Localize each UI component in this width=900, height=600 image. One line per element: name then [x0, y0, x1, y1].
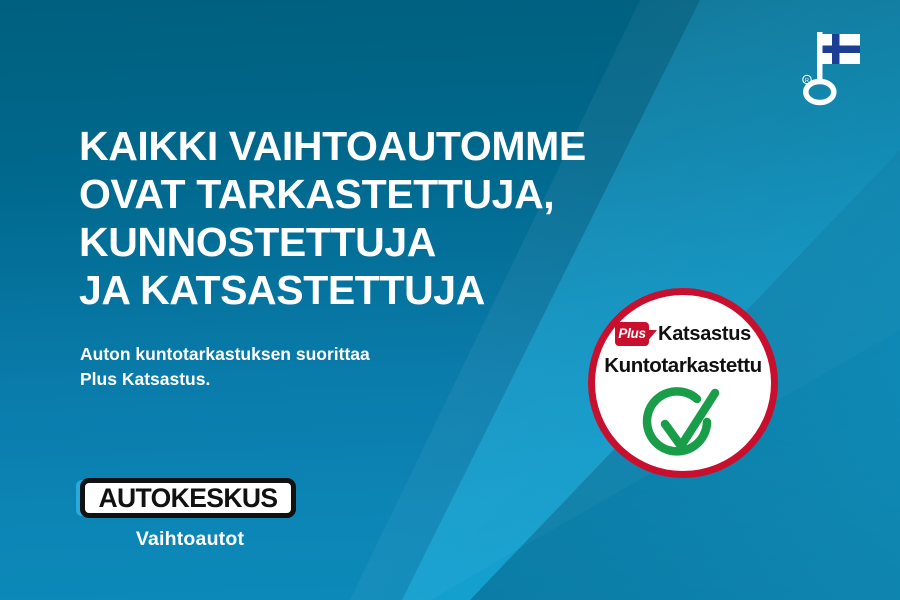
seal-title: Kuntotarkastettu — [604, 356, 762, 377]
autokeskus-logo: AUTOKESKUS Vaihtoautot — [76, 478, 304, 551]
plate-body: AUTOKESKUS — [80, 478, 296, 518]
plus-logo-mark: Plus — [615, 322, 657, 346]
katsastus-wordmark: Katsastus — [658, 324, 751, 344]
brand-name: AUTOKESKUS — [98, 485, 277, 512]
svg-text:R: R — [805, 78, 809, 84]
brand-subtitle: Vaihtoautot — [76, 528, 304, 551]
promo-banner: R KAIKKI VAIHTOAUTOMME OVAT TARKASTETTUJ… — [0, 0, 900, 600]
avainlippu-key-flag-icon: R — [786, 26, 860, 106]
plus-logo-tail — [646, 330, 657, 343]
plus-katsastus-logo: Plus Katsastus — [615, 322, 751, 346]
plus-logo-box: Plus — [615, 322, 649, 346]
green-check-circle-icon — [640, 386, 726, 466]
subheading: Auton kuntotarkastuksen suorittaa Plus K… — [80, 342, 500, 392]
license-plate-logo: AUTOKESKUS — [76, 478, 304, 518]
page-title: KAIKKI VAIHTOAUTOMME OVAT TARKASTETTUJA,… — [79, 122, 679, 314]
plus-logo-text: Plus — [618, 327, 645, 341]
status-badge: Plus Katsastus Kuntotarkastettu — [588, 288, 778, 478]
